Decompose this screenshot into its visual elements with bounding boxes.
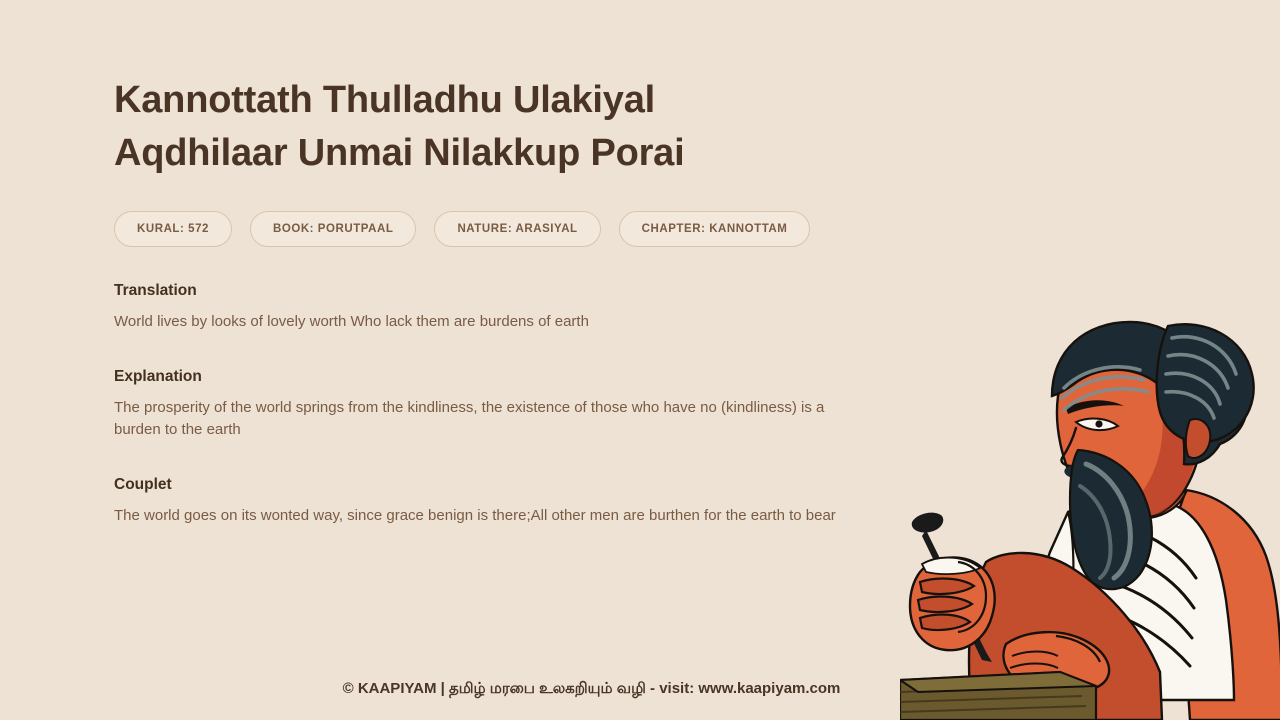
couplet-text: The world goes on its wonted way, since …: [114, 505, 866, 527]
translation-text: World lives by looks of lovely worth Who…: [114, 311, 866, 333]
badge-kural: KURAL: 572: [114, 211, 232, 247]
sage-beard: [1070, 450, 1152, 589]
sage-writing-hand: [910, 557, 995, 650]
section-explanation: Explanation The prosperity of the world …: [114, 367, 904, 441]
garment-folds: [1078, 524, 1196, 666]
badge-nature: NATURE: ARASIYAL: [434, 211, 600, 247]
couplet-heading: Couplet: [114, 475, 904, 495]
badge-chapter: CHAPTER: KANNOTTAM: [619, 211, 811, 247]
meta-badge-row: KURAL: 572 BOOK: PORUTPAAL NATURE: ARASI…: [114, 211, 904, 247]
explanation-heading: Explanation: [114, 367, 904, 387]
sage-moustache: [1064, 462, 1122, 482]
page-title: Kannottath Thulladhu Ulakiyal Aqdhilaar …: [114, 74, 814, 180]
explanation-text: The prosperity of the world springs from…: [114, 397, 866, 441]
sage-eye: [1076, 419, 1118, 431]
sage-hair: [1052, 322, 1248, 464]
badge-book: BOOK: PORUTPAAL: [250, 211, 416, 247]
sage-hair-bun: [1157, 324, 1254, 442]
section-couplet: Couplet The world goes on its wonted way…: [114, 475, 904, 527]
thiruvalluvar-writing-illustration: [900, 300, 1280, 720]
face-shadow: [1124, 356, 1197, 516]
sage-nose: [1061, 428, 1076, 466]
translation-heading: Translation: [114, 281, 904, 301]
footer-credit: © KAAPIYAM | தமிழ் மரபை உலகறியும் வழி - …: [0, 678, 1183, 700]
sage-eyebrow: [1066, 400, 1124, 414]
sage-face: [1057, 340, 1202, 520]
sage-neck: [1112, 470, 1186, 519]
sage-garment: [1036, 497, 1234, 700]
section-translation: Translation World lives by looks of love…: [114, 281, 904, 333]
sage-shoulder: [1170, 490, 1280, 720]
stylus-tool: [912, 513, 992, 662]
kural-card: Kannottath Thulladhu Ulakiyal Aqdhilaar …: [0, 0, 1280, 720]
hair-strands: [1062, 337, 1236, 418]
kural-content: Kannottath Thulladhu Ulakiyal Aqdhilaar …: [114, 74, 904, 527]
sage-ear: [1186, 419, 1210, 458]
